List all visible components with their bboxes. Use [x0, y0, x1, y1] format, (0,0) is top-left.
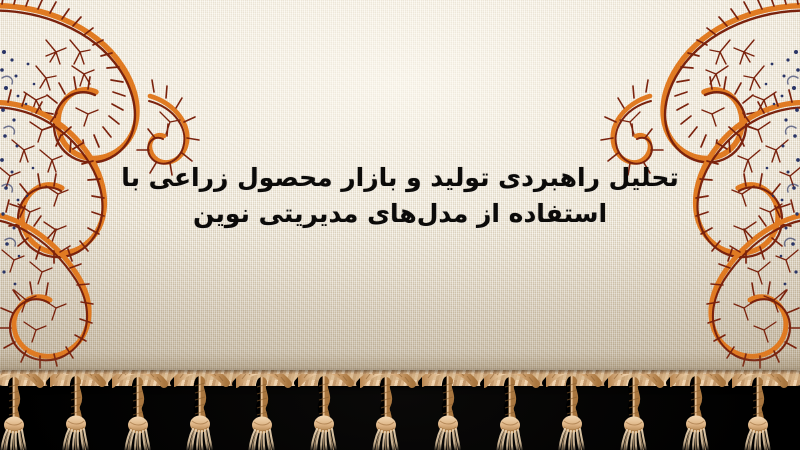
cloth-hem-cord: [0, 370, 800, 386]
title-slide: تحلیل راهبردی تولید و بازار محصول زراعی …: [0, 0, 800, 450]
woven-linen-cloth: [0, 0, 800, 386]
